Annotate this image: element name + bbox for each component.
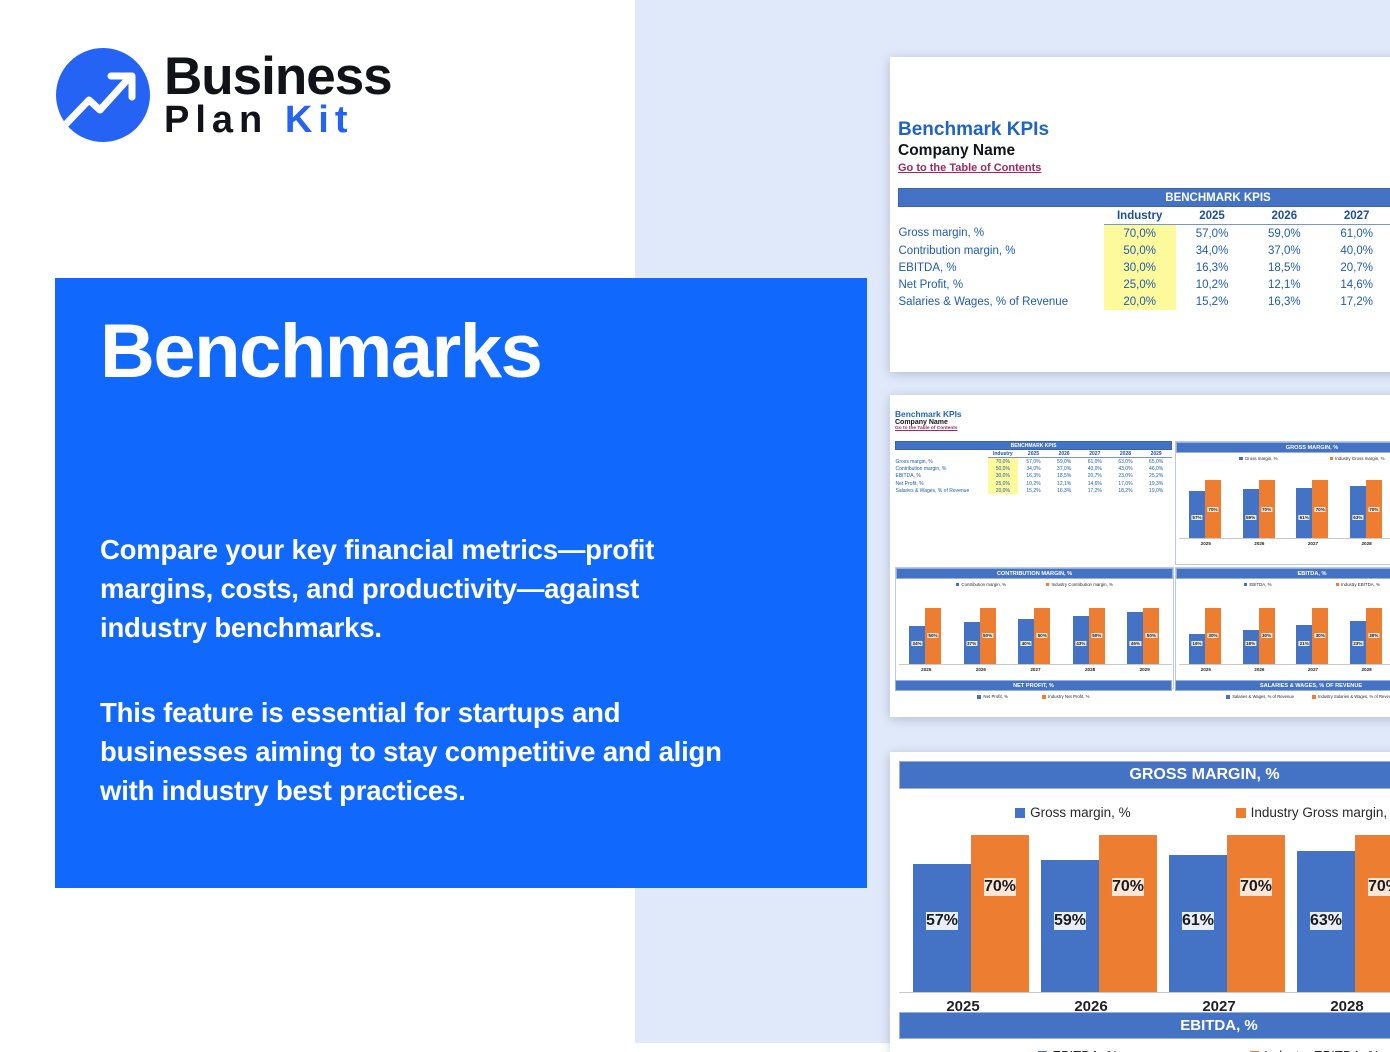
bar-group: 16%30% [1189, 608, 1221, 664]
table-col-header: 2027 [1079, 450, 1110, 458]
table-of-contents-link-mini[interactable]: Go to the Table of Contents [895, 426, 962, 431]
table-cell: 17,2% [1320, 293, 1390, 310]
table-cell-industry: 25,0% [988, 480, 1019, 487]
bar-value-label: 21% [1299, 641, 1310, 646]
bar-value-label: 50% [927, 633, 938, 638]
table-cell: 57,0% [1176, 225, 1248, 243]
table-cell: 43,0% [1110, 466, 1141, 473]
brand-plan-word: Plan [164, 99, 268, 141]
table-col-header: 2026 [1049, 450, 1080, 458]
bar-value-label: 50% [1146, 633, 1157, 638]
table-cell: 15,2% [1018, 487, 1049, 494]
bar-value-label: 70% [1240, 878, 1272, 896]
bar-group: 43%50% [1073, 608, 1105, 664]
sheet-header-mini: Benchmark KPIs Company Name Go to the Ta… [895, 409, 962, 431]
page-title: Benchmarks [100, 308, 541, 395]
table-col-header: 2029 [1141, 450, 1172, 458]
table-row: Salaries & Wages, % of Revenue20,0%15,2%… [899, 293, 1390, 310]
bar-value-label: 16% [1191, 641, 1202, 646]
legend-label: Industry Contribution margin, % [1051, 582, 1113, 587]
table-row-label: Salaries & Wages, % of Revenue [896, 487, 988, 494]
screenshot-panel-kpi-table[interactable]: Benchmark KPIs Company Name Go to the Ta… [890, 57, 1390, 372]
mini-chart-legend: Contribution margin, %Industry Contribut… [896, 582, 1173, 587]
legend-label: Industry Salaries & Wages, % of Revenue [1318, 694, 1390, 699]
mini-chart-legend: EBITDA, %Industry EBITDA, % [1176, 582, 1390, 587]
bar-group: 37%50% [964, 608, 996, 664]
table-row: EBITDA, %30,0%16,3%18,5%20,7%23,0%25,2% [899, 259, 1390, 276]
legend-label-industry: Industry Gross margin, % [1251, 805, 1390, 820]
bar-group: 57%70% [913, 835, 1029, 992]
table-cell: 57,0% [1018, 458, 1049, 466]
table-cell: 40,0% [1079, 466, 1110, 473]
bar-industry[interactable]: 70% [1366, 480, 1382, 538]
table-cell: 63,0% [1110, 458, 1141, 466]
legend-swatch-industry-icon [1336, 583, 1339, 586]
legend-swatch-company-icon [977, 695, 981, 699]
table-row-label: Salaries & Wages, % of Revenue [899, 293, 1104, 310]
bar-company[interactable]: 59% [1243, 489, 1259, 538]
mini-plot-area: 34%50%37%50%40%50%43%50%46%50% [899, 602, 1172, 664]
table-cell: 16,3% [1248, 293, 1320, 310]
bar-value-label: 59% [1054, 912, 1086, 930]
table-cell: 46,0% [1141, 466, 1172, 473]
table-row-label: Gross margin, % [899, 225, 1104, 243]
bar-industry[interactable]: 50% [1034, 608, 1050, 664]
legend-label: Salaries & Wages, % of Revenue [1232, 694, 1294, 699]
table-cell: 12,1% [1248, 276, 1320, 293]
bar-value-label: 70% [1315, 507, 1326, 512]
bar-industry[interactable]: 70% [1259, 480, 1275, 538]
table-cell: 37,0% [1248, 242, 1320, 259]
bar-company[interactable]: 57% [1189, 491, 1205, 538]
x-axis-label: 2028 [1340, 541, 1390, 546]
table-cell: 61,0% [1079, 458, 1110, 466]
bar-industry[interactable]: 70% [1205, 480, 1221, 538]
bar-company[interactable]: 63% [1297, 851, 1355, 992]
table-row-label: Contribution margin, % [896, 466, 988, 473]
bar-value-label: 70% [1207, 507, 1218, 512]
legend-label: Contribution margin, % [961, 582, 1006, 587]
bar-group: 61%70% [1296, 480, 1328, 538]
bar-group: 59%70% [1243, 480, 1275, 538]
screenshot-panel-dashboard[interactable]: Benchmark KPIs Company Name Go to the Ta… [890, 395, 1390, 717]
table-cell-industry: 50,0% [1104, 242, 1176, 259]
bar-value-label: 30% [1315, 633, 1326, 638]
bar-value-label: 59% [1245, 515, 1256, 520]
table-col-header [896, 450, 988, 458]
x-axis-label: 2025 [899, 667, 954, 672]
bar-value-label: 70% [1368, 878, 1390, 896]
bar-company[interactable]: 61% [1296, 488, 1312, 538]
legend-swatch-company-icon [1015, 808, 1025, 818]
hero-paragraph-1: Compare your key financial metrics—profi… [100, 530, 740, 647]
table-cell: 16,3% [1049, 487, 1080, 494]
table-cell: 25,2% [1141, 473, 1172, 480]
screenshot-panel-gross-margin-chart[interactable]: GROSS MARGIN, % Gross margin, % Industry… [890, 752, 1390, 1052]
table-row-label: Contribution margin, % [899, 242, 1104, 259]
bar-industry[interactable]: 70% [1312, 480, 1328, 538]
bar-industry[interactable]: 50% [980, 608, 996, 664]
mini-chart-gross-margin[interactable]: GROSS MARGIN, %Gross margin, %Industry G… [1175, 441, 1390, 565]
bar-industry[interactable]: 70% [1355, 835, 1390, 992]
table-cell-industry: 70,0% [988, 458, 1019, 466]
bar-industry[interactable]: 30% [1205, 608, 1221, 664]
table-cell: 16,3% [1018, 473, 1049, 480]
table-cell: 18,5% [1049, 473, 1080, 480]
table-banner: BENCHMARK KPIS [899, 189, 1390, 207]
table-row: Salaries & Wages, % of Revenue20,0%15,2%… [896, 487, 1172, 494]
bar-company[interactable]: 46% [1127, 612, 1143, 664]
bar-company[interactable]: 18% [1243, 630, 1259, 664]
legend-swatch-industry-icon [1312, 695, 1316, 699]
bar-value-label: 34% [911, 641, 922, 646]
mini-chart-legend: Gross margin, %Industry Gross margin, % [1176, 456, 1390, 461]
table-row: Contribution margin, %50,0%34,0%37,0%40,… [896, 466, 1172, 473]
table-row-label: Gross margin, % [896, 458, 988, 466]
x-axis-label: 2027 [1286, 667, 1340, 672]
table-cell: 16,3% [1176, 259, 1248, 276]
bar-group: 23%30% [1350, 608, 1382, 664]
mini-x-axis: 20252026202720282029 [899, 664, 1172, 678]
bar-value-label: 70% [984, 878, 1016, 896]
legend-label: EBITDA, % [1249, 582, 1271, 587]
table-row: EBITDA, %30,0%16,3%18,5%20,7%23,0%25,2% [896, 473, 1172, 480]
legend-label-industry-ebitda: Industry EBITDA, % [1264, 1048, 1380, 1052]
bar-value-label: 61% [1182, 912, 1214, 930]
bar-group: 57%70% [1189, 480, 1221, 538]
bar-value-label: 30% [1261, 633, 1272, 638]
mini-x-axis: 20252026202720282029 [1179, 538, 1390, 552]
legend-swatch-company-icon [1244, 583, 1247, 586]
section-title-ebitda: EBITDA, % [899, 1012, 1390, 1039]
mini-section-salaries[interactable]: SALARIES & WAGES, % OF REVENUE Salaries … [1175, 680, 1390, 699]
bar-value-label: 70% [1261, 507, 1272, 512]
table-banner: BENCHMARK KPIS [896, 442, 1172, 450]
bar-company[interactable]: 43% [1073, 616, 1089, 664]
table-row: Gross margin, %70,0%57,0%59,0%61,0%63,0%… [899, 225, 1390, 243]
benchmark-kpi-table: BENCHMARK KPISIndustry202520262027202820… [898, 188, 1390, 310]
table-col-header: 2028 [1110, 450, 1141, 458]
bar-value-label: 70% [1112, 878, 1144, 896]
mini-chart-title: CONTRIBUTION MARGIN, % [896, 568, 1173, 579]
table-col-header [899, 207, 1104, 225]
table-row-label: EBITDA, % [896, 473, 988, 480]
table-col-header: 2027 [1320, 207, 1390, 225]
bar-value-label: 30% [1368, 633, 1379, 638]
chart-legend-gross-margin: Gross margin, % Industry Gross margin, % [899, 805, 1390, 820]
table-cell: 19,3% [1141, 480, 1172, 487]
bar-group: 59%70% [1041, 835, 1157, 992]
mini-section-net-profit[interactable]: NET PROFIT, % Net Profit, % Industry Net… [895, 680, 1172, 699]
table-row: Gross margin, %70,0%57,0%59,0%61,0%63,0%… [896, 458, 1172, 466]
legend-swatch-company-icon [1239, 457, 1242, 460]
bar-value-label: 50% [982, 633, 993, 638]
table-cell-industry: 20,0% [1104, 293, 1176, 310]
bar-company[interactable]: 23% [1350, 621, 1366, 664]
bar-industry[interactable]: 50% [925, 608, 941, 664]
table-cell: 59,0% [1049, 458, 1080, 466]
bar-value-label: 70% [1368, 507, 1379, 512]
x-axis-label: 2026 [954, 667, 1009, 672]
table-cell-industry: 30,0% [988, 473, 1019, 480]
x-axis-label: 2029 [1117, 667, 1172, 672]
sheet-title-mini: Benchmark KPIs [895, 409, 962, 419]
table-cell: 34,0% [1176, 242, 1248, 259]
bar-company[interactable]: 21% [1296, 625, 1312, 664]
bar-industry[interactable]: 50% [1143, 608, 1159, 664]
mini-chart-title: EBITDA, % [1176, 568, 1390, 579]
table-cell: 65,0% [1141, 458, 1172, 466]
bar-value-label: 63% [1352, 515, 1363, 520]
bar-value-label: 57% [926, 912, 958, 930]
bar-group: 46%50% [1127, 608, 1159, 664]
x-axis-label: 2028 [1340, 667, 1390, 672]
legend-swatch-industry-icon [1046, 583, 1049, 586]
table-cell: 10,2% [1176, 276, 1248, 293]
sheet-company-name-mini: Company Name [895, 419, 962, 426]
table-cell: 12,1% [1049, 480, 1080, 487]
mini-x-axis: 20252026202720282029 [1179, 664, 1390, 678]
table-cell: 14,6% [1079, 480, 1110, 487]
hero-panel: Benchmarks Compare your key financial me… [55, 278, 867, 888]
legend-label-ebitda: EBITDA, % [1052, 1048, 1118, 1052]
table-col-header: 2025 [1018, 450, 1049, 458]
chart-plot-area-gross-margin: 57%70%59%70%61%70%63%70%65%70% [899, 824, 1390, 992]
table-col-header: Industry [1104, 207, 1176, 225]
legend-label: Net Profit, % [983, 694, 1008, 699]
bar-group: 63%70% [1297, 835, 1390, 992]
bar-group: 63%70% [1350, 480, 1382, 538]
bar-company[interactable]: 37% [964, 622, 980, 664]
table-of-contents-link[interactable]: Go to the Table of Contents [898, 162, 1049, 174]
legend-swatch-industry-icon [1236, 808, 1246, 818]
bar-value-label: 57% [1191, 515, 1202, 520]
bar-value-label: 18% [1245, 641, 1256, 646]
bar-group: 18%30% [1243, 608, 1275, 664]
table-row-label: EBITDA, % [899, 259, 1104, 276]
table-cell: 18,5% [1248, 259, 1320, 276]
table-cell: 19,0% [1141, 487, 1172, 494]
legend-label: Gross margin, % [1245, 456, 1278, 461]
bar-company[interactable]: 63% [1350, 486, 1366, 538]
mini-section-title-salaries: SALARIES & WAGES, % OF REVENUE [1175, 680, 1390, 691]
bar-value-label: 46% [1130, 641, 1141, 646]
x-axis-label: 2025 [1179, 667, 1233, 672]
brand-kit-word: Kit [285, 99, 354, 141]
bar-value-label: 37% [966, 641, 977, 646]
table-cell: 23,0% [1110, 473, 1141, 480]
legend-swatch-company-icon [956, 583, 959, 586]
legend-label: Industry Net Profit, % [1048, 694, 1089, 699]
table-cell: 40,0% [1320, 242, 1390, 259]
bar-industry[interactable]: 30% [1312, 608, 1328, 664]
table-cell: 17,0% [1110, 480, 1141, 487]
mini-chart-ebitda[interactable]: EBITDA, %EBITDA, %Industry EBITDA, %16%3… [1175, 567, 1390, 689]
bar-group: 61%70% [1169, 835, 1285, 992]
table-cell-industry: 20,0% [988, 487, 1019, 494]
table-row: Net Profit, %25,0%10,2%12,1%14,6%17,0%19… [896, 480, 1172, 487]
table-row: Contribution margin, %50,0%34,0%37,0%40,… [899, 242, 1390, 259]
table-cell-industry: 70,0% [1104, 225, 1176, 243]
bar-group: 21%30% [1296, 608, 1328, 664]
mini-legend-salaries: Salaries & Wages, % of Revenue Industry … [1175, 694, 1390, 699]
growth-arrow-icon [56, 48, 150, 142]
table-cell: 61,0% [1320, 225, 1390, 243]
mini-plot-area: 57%70%59%70%61%70%63%70%65%70% [1179, 476, 1390, 538]
mini-chart-title: GROSS MARGIN, % [1176, 442, 1390, 453]
bar-industry[interactable]: 70% [971, 835, 1029, 992]
mini-plot-area: 16%30%18%30%21%30%23%30%25%30% [1179, 602, 1390, 664]
table-cell-industry: 25,0% [1104, 276, 1176, 293]
bar-group: 40%50% [1018, 608, 1050, 664]
legend-swatch-industry-icon [1330, 457, 1333, 460]
x-axis-label: 2026 [1233, 667, 1287, 672]
section-ebitda[interactable]: EBITDA, % EBITDA, % Industry EBITDA, % [899, 1002, 1390, 1052]
table-cell: 20,7% [1079, 473, 1110, 480]
hero-paragraph-2: This feature is essential for startups a… [100, 693, 740, 810]
bar-value-label: 61% [1299, 515, 1310, 520]
legend-label: Industry Gross margin, % [1335, 456, 1385, 461]
bar-value-label: 23% [1352, 641, 1363, 646]
table-cell-industry: 50,0% [988, 466, 1019, 473]
x-axis-label: 2027 [1008, 667, 1063, 672]
bar-group: 34%50% [909, 608, 941, 664]
bar-value-label: 30% [1207, 633, 1218, 638]
table-col-header: 2025 [1176, 207, 1248, 225]
chart-title-gross-margin: GROSS MARGIN, % [899, 761, 1390, 789]
bar-company[interactable]: 59% [1041, 860, 1099, 992]
bar-industry[interactable]: 70% [1227, 835, 1285, 992]
benchmark-kpi-table-mini: BENCHMARK KPISIndustry202520262027202820… [895, 441, 1172, 494]
bar-value-label: 50% [1091, 633, 1102, 638]
sheet-title: Benchmark KPIs [898, 119, 1049, 141]
table-cell: 34,0% [1018, 466, 1049, 473]
sheet-company-name: Company Name [898, 142, 1049, 160]
table-row-label: Net Profit, % [899, 276, 1104, 293]
brand-name-line2: Plan Kit [164, 102, 392, 138]
x-axis-label: 2026 [1233, 541, 1287, 546]
bar-industry[interactable]: 70% [1099, 835, 1157, 992]
table-row-label: Net Profit, % [896, 480, 988, 487]
brand-name-line1: Business [164, 52, 392, 102]
bar-company[interactable]: 61% [1169, 855, 1227, 992]
bar-industry[interactable]: 30% [1259, 608, 1275, 664]
bar-value-label: 50% [1037, 633, 1048, 638]
bar-company[interactable]: 34% [909, 626, 925, 664]
table-cell: 37,0% [1049, 466, 1080, 473]
table-cell: 17,2% [1079, 487, 1110, 494]
legend-swatch-industry-icon [1042, 695, 1046, 699]
bar-company[interactable]: 57% [913, 864, 971, 992]
table-cell: 14,6% [1320, 276, 1390, 293]
table-cell: 59,0% [1248, 225, 1320, 243]
mini-legend-net-profit: Net Profit, % Industry Net Profit, % [895, 694, 1172, 699]
table-cell: 20,7% [1320, 259, 1390, 276]
bar-company[interactable]: 16% [1189, 634, 1205, 664]
table-row: Net Profit, %25,0%10,2%12,1%14,6%17,0%19… [899, 276, 1390, 293]
x-axis-label: 2025 [1179, 541, 1233, 546]
legend-ebitda: EBITDA, % Industry EBITDA, % [899, 1048, 1390, 1052]
table-col-header: Industry [988, 450, 1019, 458]
table-col-header: 2026 [1248, 207, 1320, 225]
x-axis-label: 2027 [1286, 541, 1340, 546]
x-axis-label: 2028 [1063, 667, 1118, 672]
table-cell: 15,2% [1176, 293, 1248, 310]
table-cell: 18,2% [1110, 487, 1141, 494]
mini-section-title-net-profit: NET PROFIT, % [895, 680, 1172, 691]
sheet-header: Benchmark KPIs Company Name Go to the Ta… [898, 119, 1049, 174]
legend-label-company: Gross margin, % [1030, 805, 1131, 820]
bar-value-label: 63% [1310, 912, 1342, 930]
mini-chart-contribution-margin[interactable]: CONTRIBUTION MARGIN, %Contribution margi… [895, 567, 1174, 689]
bar-industry[interactable]: 50% [1089, 608, 1105, 664]
legend-swatch-company-icon [1226, 695, 1230, 699]
bar-value-label: 40% [1021, 641, 1032, 646]
legend-label: Industry EBITDA, % [1341, 582, 1380, 587]
table-cell: 10,2% [1018, 480, 1049, 487]
bar-company[interactable]: 40% [1018, 619, 1034, 664]
table-cell-industry: 30,0% [1104, 259, 1176, 276]
bar-industry[interactable]: 30% [1366, 608, 1382, 664]
brand-logo: Business Plan Kit [56, 48, 392, 142]
bar-value-label: 43% [1075, 641, 1086, 646]
gross-margin-chart-frame: GROSS MARGIN, % [899, 761, 1390, 789]
